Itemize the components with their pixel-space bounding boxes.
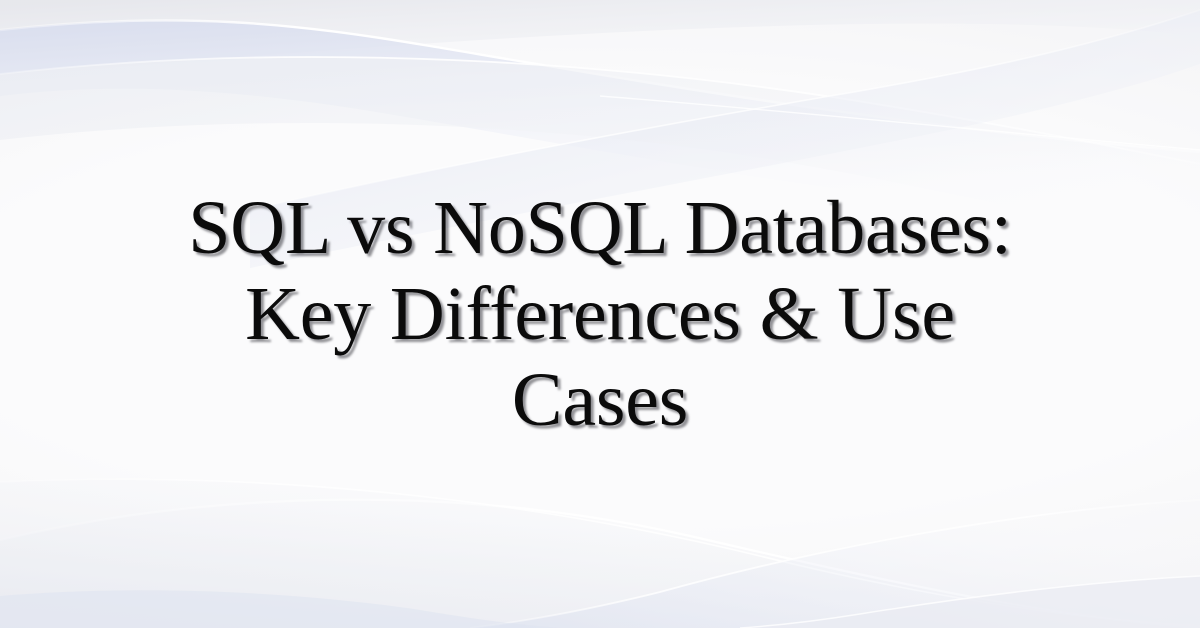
title-line-2: Key Differences & Use: [245, 271, 955, 357]
title-line-1: SQL vs NoSQL Databases:: [188, 185, 1012, 271]
banner-title: SQL vs NoSQL Databases: Key Differences …: [0, 0, 1200, 628]
title-line-3: Cases: [512, 357, 688, 443]
hero-banner: SQL vs NoSQL Databases: Key Differences …: [0, 0, 1200, 628]
